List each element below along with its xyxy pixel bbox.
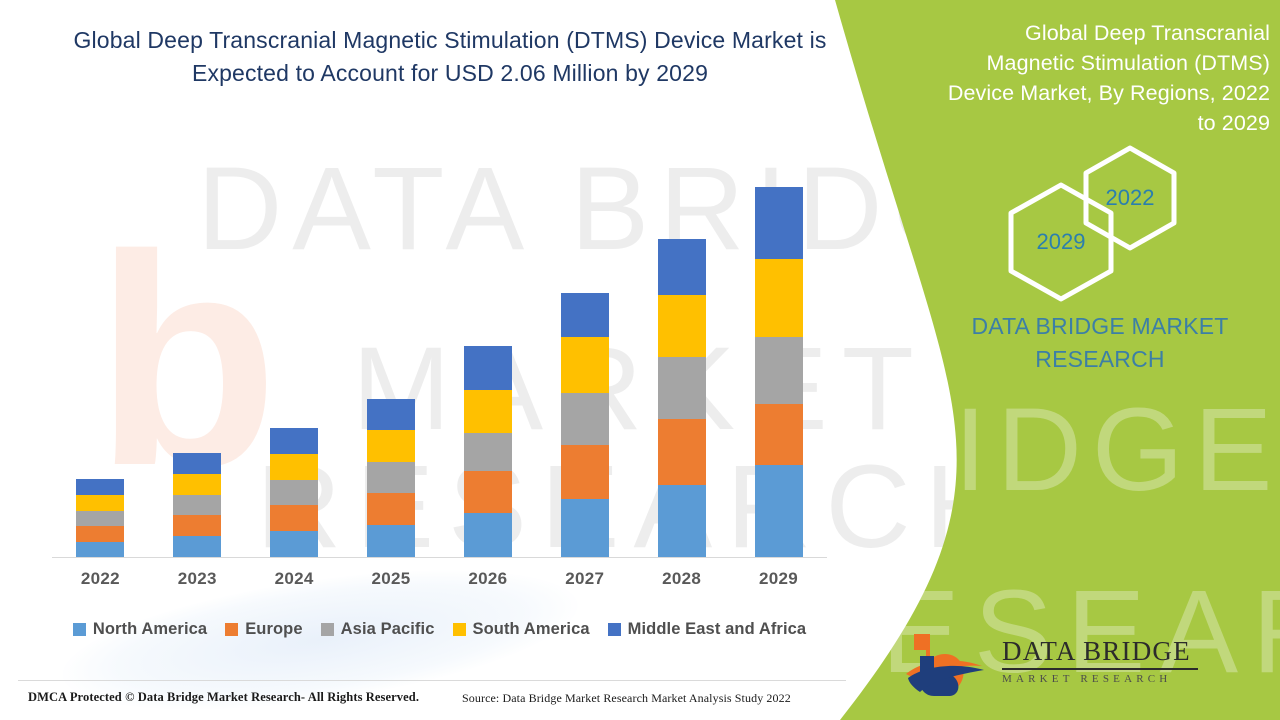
- bar-segment: [270, 480, 318, 505]
- bar-segment: [367, 493, 415, 525]
- bar-segment: [367, 430, 415, 462]
- chart-x-axis-line: [52, 557, 827, 558]
- data-bridge-logo: DATA BRIDGE MARKET RESEARCH: [904, 628, 1204, 698]
- bar-column: [52, 177, 149, 557]
- bar-segment: [173, 515, 221, 536]
- legend-swatch-icon: [453, 623, 466, 636]
- bar-segment: [658, 485, 706, 557]
- bar-column: [343, 177, 440, 557]
- bar-segment: [755, 465, 803, 557]
- bar-segment: [464, 471, 512, 513]
- logo-mark-icon: [904, 630, 996, 696]
- chart-legend: North AmericaEuropeAsia PacificSouth Ame…: [52, 616, 827, 642]
- bar-column: [149, 177, 246, 557]
- chart-plot-area: [52, 170, 827, 558]
- chart-x-axis-labels: 20222023202420252026202720282029: [52, 566, 827, 592]
- x-axis-tick-label: 2022: [52, 566, 149, 592]
- bar-column: [633, 177, 730, 557]
- x-axis-tick-label: 2026: [440, 566, 537, 592]
- stacked-bar: [755, 187, 803, 557]
- footer-source: Source: Data Bridge Market Research Mark…: [462, 691, 791, 706]
- stacked-bar: [270, 428, 318, 557]
- x-axis-tick-label: 2027: [536, 566, 633, 592]
- logo-divider: [1002, 668, 1198, 670]
- bar-segment: [464, 346, 512, 390]
- bar-segment: [367, 525, 415, 557]
- bar-segment: [658, 357, 706, 419]
- bar-column: [536, 177, 633, 557]
- bar-column: [440, 177, 537, 557]
- bar-segment: [755, 337, 803, 404]
- stacked-bar: [658, 239, 706, 557]
- stacked-bar: [561, 293, 609, 557]
- bar-segment: [658, 295, 706, 357]
- bar-segment: [464, 390, 512, 433]
- x-axis-tick-label: 2028: [633, 566, 730, 592]
- legend-label: Middle East and Africa: [628, 620, 807, 639]
- legend-label: Europe: [245, 620, 302, 639]
- bar-segment: [561, 337, 609, 393]
- bar-column: [730, 177, 827, 557]
- legend-item[interactable]: South America: [453, 620, 590, 639]
- bar-segment: [367, 399, 415, 430]
- legend-swatch-icon: [73, 623, 86, 636]
- logo-text-block: DATA BRIDGE MARKET RESEARCH: [1002, 636, 1202, 687]
- stacked-bar: [464, 346, 512, 557]
- stacked-bar: [173, 453, 221, 557]
- bar-segment: [173, 453, 221, 474]
- bar-segment: [755, 259, 803, 337]
- legend-swatch-icon: [225, 623, 238, 636]
- bar-segment: [561, 499, 609, 557]
- infographic-canvas: b DATA BRIDGE MARKET RESEARCH BRIDGE RES…: [0, 0, 1280, 720]
- bar-segment: [270, 505, 318, 531]
- bar-segment: [561, 445, 609, 499]
- bar-segment: [76, 479, 124, 495]
- bar-segment: [76, 511, 124, 526]
- bar-segment: [367, 462, 415, 493]
- x-axis-tick-label: 2025: [343, 566, 440, 592]
- bar-segment: [561, 393, 609, 445]
- page-title: Global Deep Transcranial Magnetic Stimul…: [60, 24, 840, 90]
- stacked-bar: [367, 399, 415, 557]
- bar-segment: [173, 536, 221, 557]
- legend-item[interactable]: Europe: [225, 620, 302, 639]
- footer-copyright: DMCA Protected © Data Bridge Market Rese…: [28, 690, 419, 705]
- bar-segment: [173, 474, 221, 495]
- bar-segment: [76, 526, 124, 542]
- x-axis-tick-label: 2024: [246, 566, 343, 592]
- bar-segment: [755, 404, 803, 465]
- footer-divider: [18, 680, 846, 681]
- x-axis-tick-label: 2029: [730, 566, 827, 592]
- bar-segment: [270, 531, 318, 557]
- footer: DMCA Protected © Data Bridge Market Rese…: [0, 680, 860, 720]
- bar-segment: [464, 513, 512, 557]
- bar-segment: [173, 495, 221, 515]
- bar-segment: [658, 419, 706, 485]
- legend-item[interactable]: Asia Pacific: [321, 620, 435, 639]
- legend-label: South America: [473, 620, 590, 639]
- legend-item[interactable]: Middle East and Africa: [608, 620, 807, 639]
- legend-swatch-icon: [321, 623, 334, 636]
- bar-segment: [561, 293, 609, 337]
- x-axis-tick-label: 2023: [149, 566, 246, 592]
- bar-column: [246, 177, 343, 557]
- chart-bars: [52, 177, 827, 557]
- stacked-bar-chart: 20222023202420252026202720282029 North A…: [0, 0, 860, 660]
- svg-text:BRIDGE: BRIDGE: [810, 384, 1280, 516]
- legend-label: Asia Pacific: [341, 620, 435, 639]
- logo-subtitle: MARKET RESEARCH: [1002, 672, 1202, 687]
- bar-segment: [270, 428, 318, 454]
- stacked-bar: [76, 479, 124, 557]
- bar-segment: [755, 187, 803, 259]
- bar-segment: [76, 542, 124, 557]
- logo-title: DATA BRIDGE: [1002, 636, 1202, 667]
- bar-segment: [464, 433, 512, 471]
- legend-label: North America: [93, 620, 207, 639]
- bar-segment: [658, 239, 706, 295]
- green-side-panel: BRIDGE RESEARCH: [810, 0, 1280, 720]
- bar-segment: [76, 495, 124, 511]
- legend-item[interactable]: North America: [73, 620, 207, 639]
- bar-segment: [270, 454, 318, 480]
- legend-swatch-icon: [608, 623, 621, 636]
